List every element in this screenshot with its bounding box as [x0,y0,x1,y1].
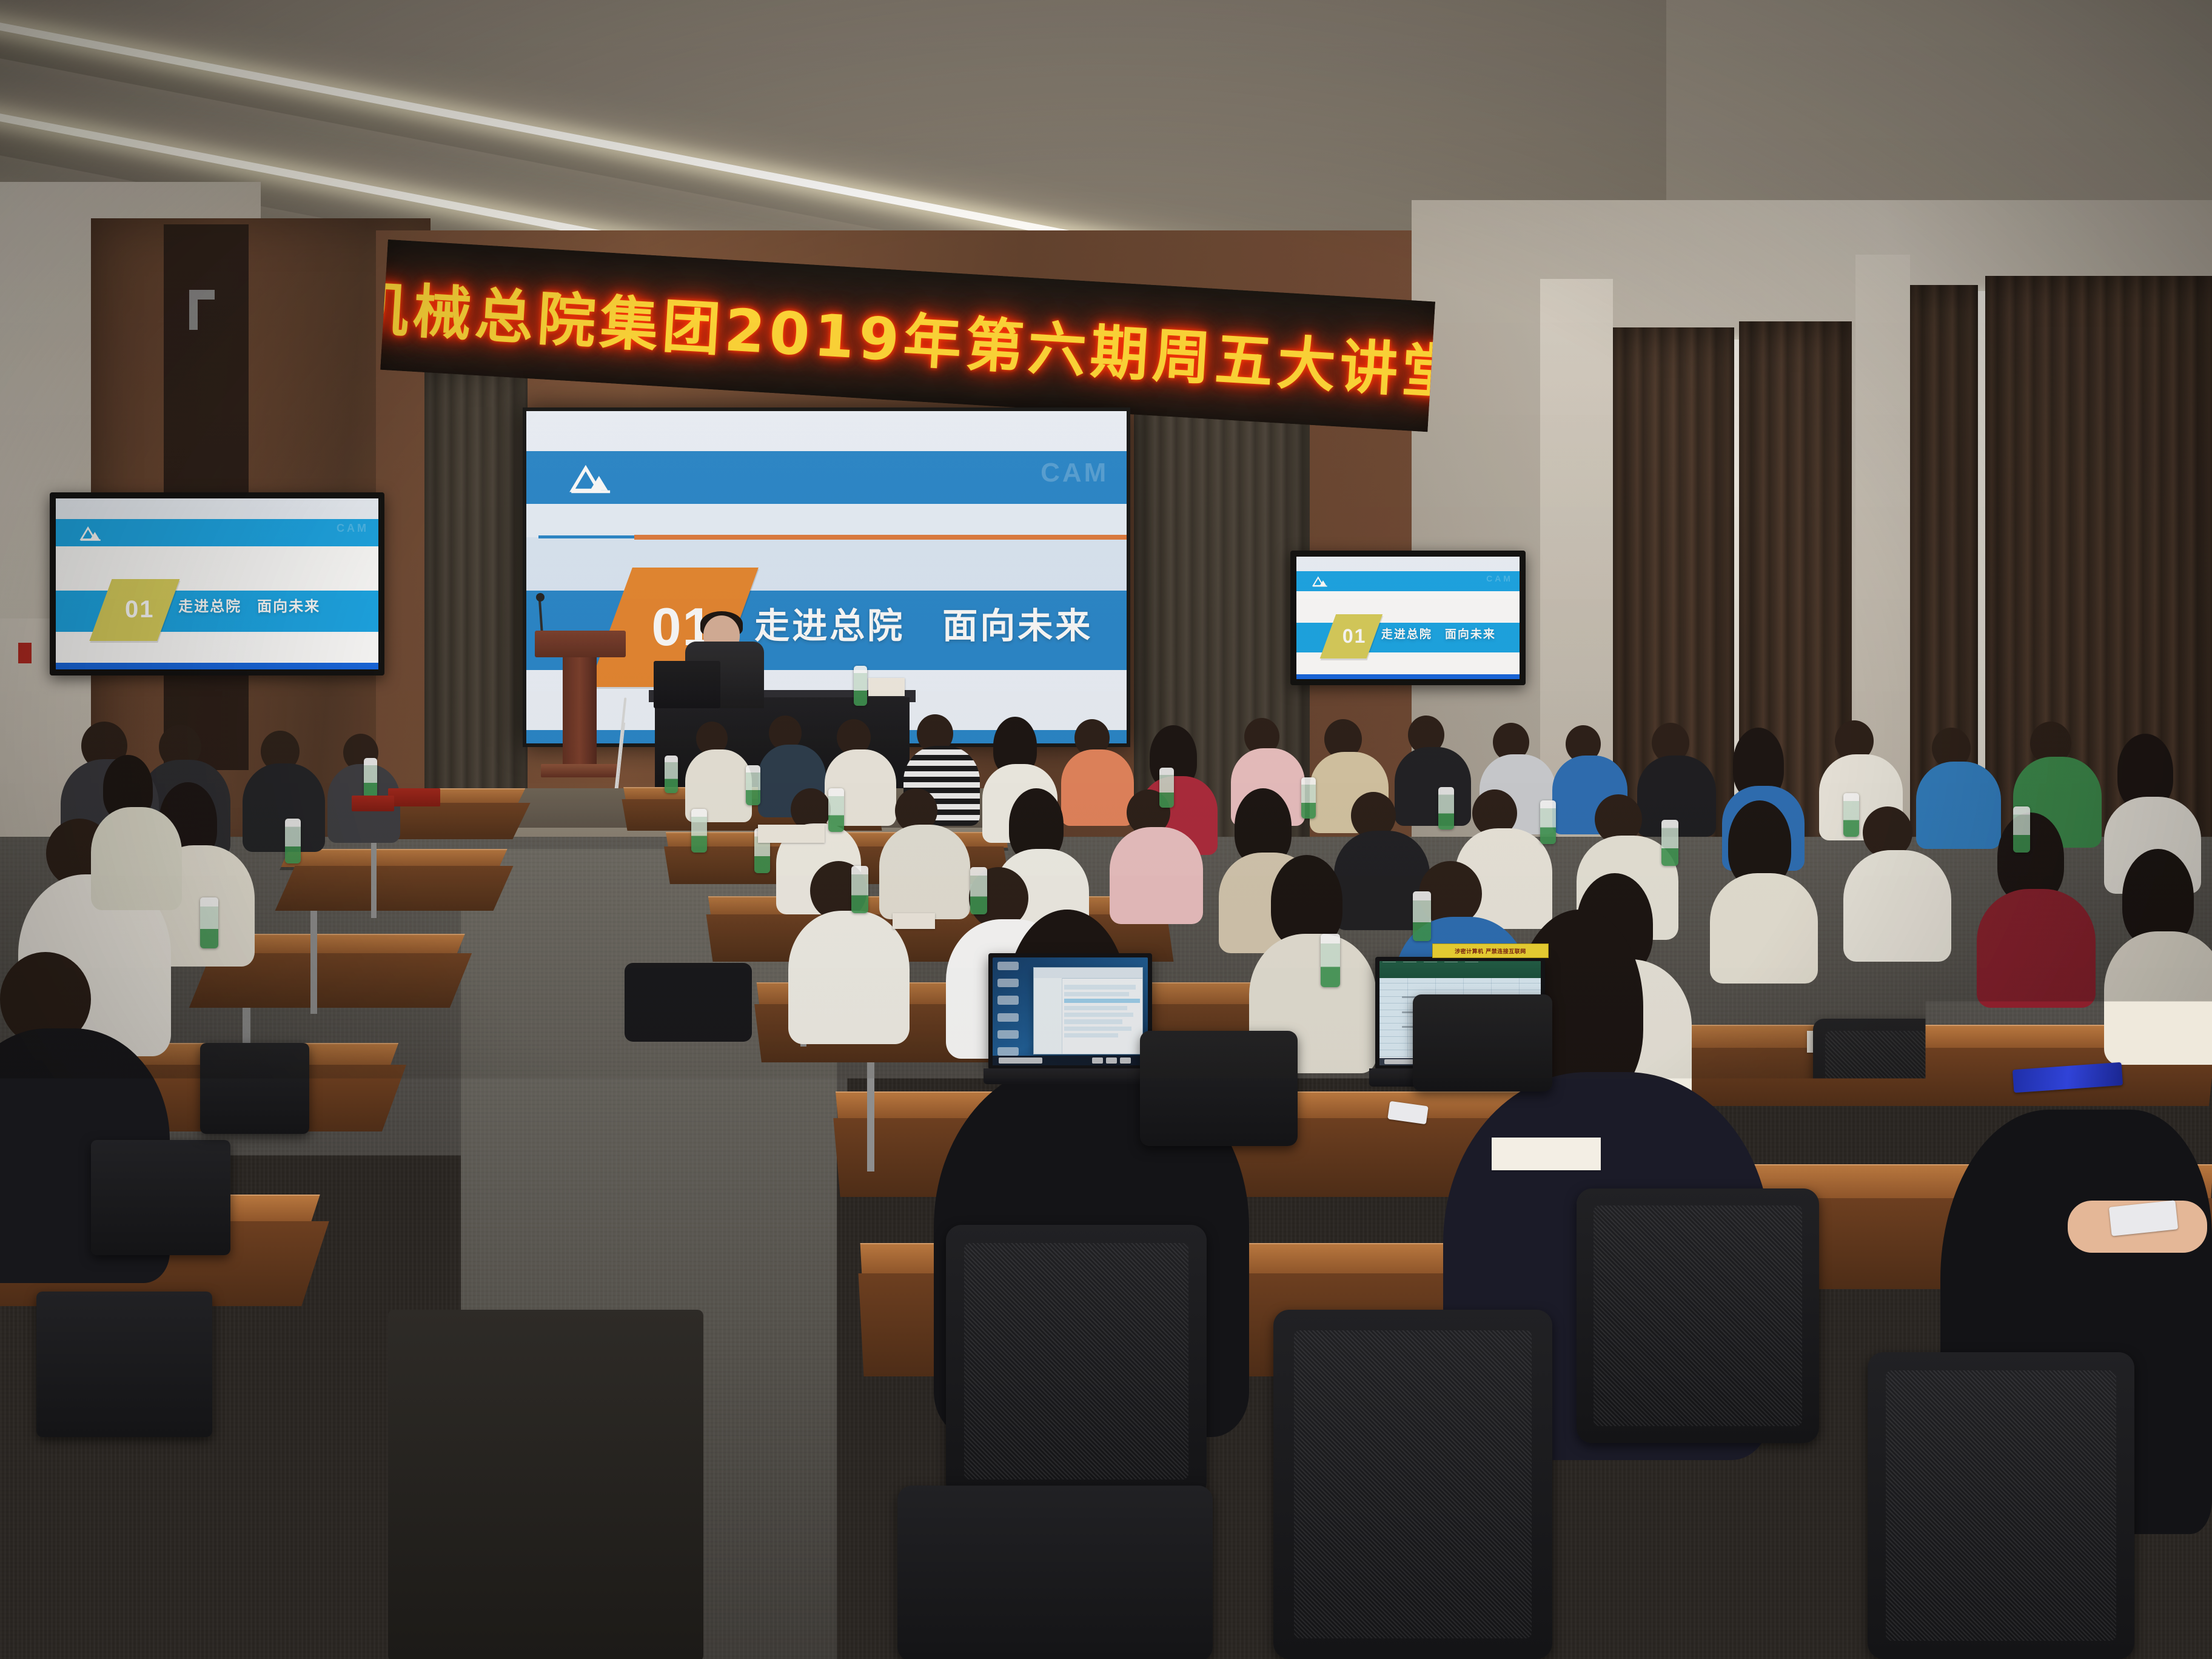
taskbar-item[interactable] [999,1057,1042,1064]
spreadsheet-tabs[interactable] [1382,962,1480,962]
taskbar-item[interactable] [1384,1059,1413,1064]
security-sticker: 涉密计算机 严禁连接互联网 [1432,943,1549,958]
foreground-shadow-mass [388,1310,703,1659]
chair [91,1140,230,1255]
chair [1813,1019,1995,1158]
explorer-row[interactable] [1064,985,1136,989]
water-bottle [1540,800,1556,844]
explorer-row[interactable] [1064,1019,1123,1024]
slide-title: 走进总院 面向未来 [754,597,1093,648]
water-bottle [746,765,760,805]
paper-sheet [868,678,905,696]
mountain-logo-icon [72,525,114,542]
explorer-row[interactable] [1064,1013,1134,1017]
chair [946,1225,1207,1498]
taskbar-item[interactable] [1120,1057,1131,1064]
paper-sheet [893,913,935,929]
slide-watermark: CAM [1486,574,1513,583]
spreadsheet-ribbon[interactable] [1379,961,1541,978]
paper-sheet [758,825,825,843]
desktop-icon[interactable] [997,962,1019,970]
right-wall-monitor: CAM 01 走进总院 面向未来 [1290,551,1526,685]
desk-leg [867,1062,874,1171]
chair [1140,1031,1298,1146]
section-number: 01 [1332,620,1377,652]
explorer-nav-pane[interactable] [1034,978,1063,1054]
slide-title: 走进总院 面向未来 [1381,625,1496,642]
water-bottle [970,867,987,914]
water-bottle [285,819,301,863]
taskbar[interactable] [993,1056,1148,1065]
desktop-icon[interactable] [997,1047,1019,1056]
chair [1577,1188,1819,1443]
fire-alarm-icon [18,643,32,663]
desk-leg [310,911,317,1014]
desktop-icon[interactable] [997,996,1019,1004]
water-bottle [1413,891,1431,941]
chair [1273,1310,1552,1659]
slide-watermark: CAM [337,522,369,535]
water-bottle [1661,820,1678,866]
file-explorer-window[interactable] [1033,967,1143,1054]
wooden-podium [535,631,626,788]
explorer-row[interactable] [1064,1033,1119,1037]
water-bottle [1159,768,1174,808]
chair [36,1292,212,1437]
chair [200,1043,309,1134]
desk-front [275,866,514,911]
desktop-icon[interactable] [997,979,1019,987]
backpack [625,963,752,1042]
explorer-row-selected[interactable] [1064,999,1140,1003]
taskbar-item[interactable] [1106,1057,1117,1064]
water-bottle [1321,934,1340,987]
chair [897,1486,1213,1659]
water-bottle [2013,806,2030,853]
water-bottle [665,756,678,793]
water-bottle [851,866,868,913]
paper-sheet [1492,1138,1601,1170]
explorer-row[interactable] [1064,1027,1131,1031]
slide-content-right-monitor: CAM 01 走进总院 面向未来 [1296,557,1520,679]
presenter-laptop [654,661,720,708]
water-bottle [854,666,867,706]
conference-hall-photo: 机械总院集团2019年第六期周五大讲堂 CAM 01 走进总院 面向未来 [0,0,2212,1659]
explorer-row[interactable] [1064,1006,1127,1010]
water-bottle [1438,787,1454,829]
water-bottle [1843,793,1859,837]
mountain-logo-icon [557,463,635,496]
laptop-base[interactable] [984,1068,1157,1084]
water-bottle [364,758,377,798]
water-bottle [691,809,707,853]
slide-watermark: CAM [1041,458,1108,488]
explorer-toolbar[interactable] [1034,968,1142,979]
slide-title: 走进总院 面向未来 [178,594,320,615]
desktop-icons[interactable] [997,962,1031,1057]
podium-microphone-head-icon [536,593,545,602]
explorer-row[interactable] [1064,992,1130,996]
wall-bracket-stem-icon [189,290,198,330]
water-bottle [1301,777,1316,819]
red-gift-box [352,796,394,811]
water-bottle [200,897,218,948]
water-bottle [828,788,844,832]
desktop-icon[interactable] [997,1013,1019,1022]
chair [1868,1352,2134,1659]
taskbar-item[interactable] [1092,1057,1103,1064]
red-gift-box [388,788,440,806]
chair [1413,994,1552,1091]
section-number: 01 [107,588,172,632]
slide-content-left-monitor: CAM 01 走进总院 面向未来 [56,498,378,669]
left-wall-monitor: CAM 01 走进总院 面向未来 [50,492,384,675]
mountain-logo-icon [1307,575,1336,588]
desk-leg [371,839,377,918]
desktop-icon[interactable] [997,1030,1019,1039]
